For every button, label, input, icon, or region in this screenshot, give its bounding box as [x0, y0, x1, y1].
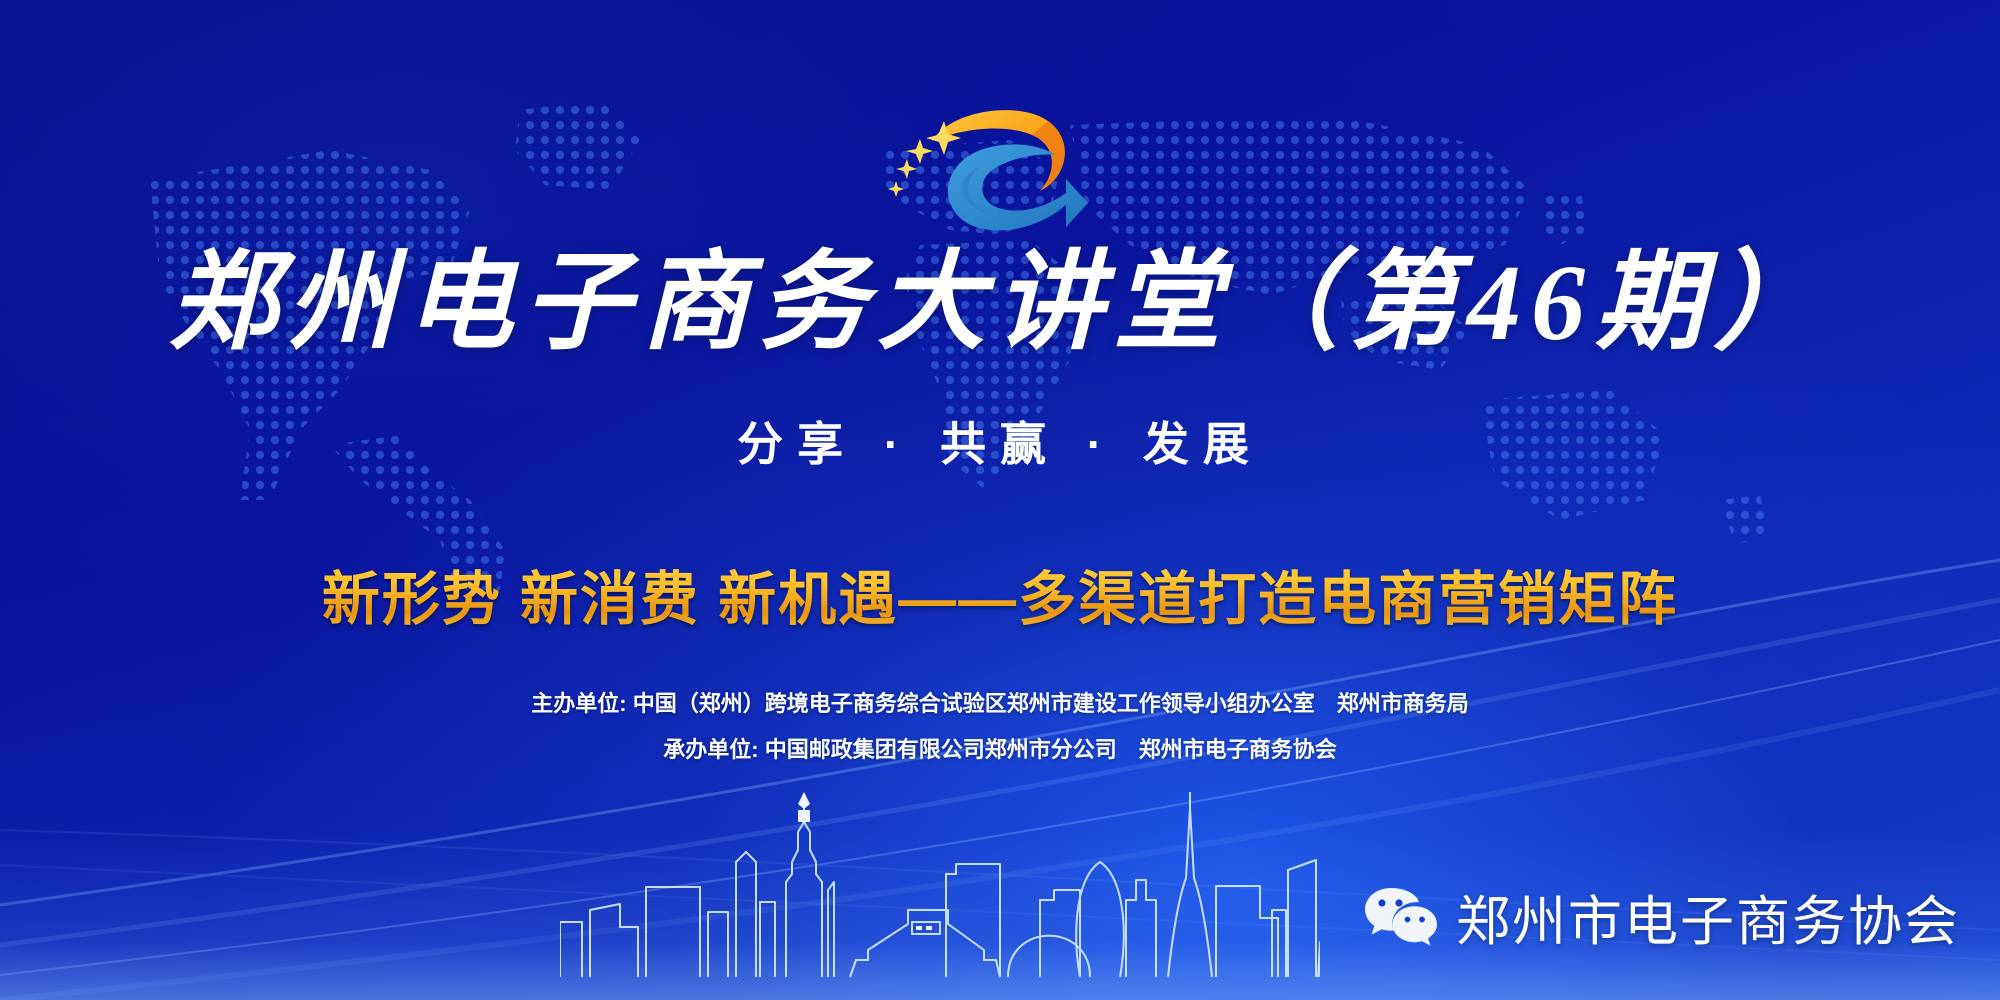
slogan: 分享 · 共赢 · 发展 — [0, 408, 2000, 474]
event-poster: 郑州电子商务大讲堂（第46期） 分享 · 共赢 · 发展 新形势 新消费 新机遇… — [0, 0, 2000, 1000]
page-title: 郑州电子商务大讲堂（第46期） — [0, 248, 2000, 360]
headline: 新形势 新消费 新机遇——多渠道打造电商营销矩阵 — [0, 552, 2000, 636]
wechat-badge[interactable]: 郑州市电子商务协会 — [1364, 877, 1960, 956]
city-skyline-outline-icon — [560, 782, 1320, 982]
host-organizer-line: 主办单位: 中国（郑州）跨境电子商务综合试验区郑州市建设工作领导小组办公室 郑州… — [0, 686, 2000, 718]
executive-organizer-line: 承办单位: 中国邮政集团有限公司郑州市分公司 郑州市电子商务协会 — [0, 732, 2000, 764]
zhengzhou-ecommerce-logo-icon — [880, 95, 1120, 235]
wechat-icon — [1364, 885, 1438, 949]
wechat-account-name: 郑州市电子商务协会 — [1456, 877, 1960, 956]
